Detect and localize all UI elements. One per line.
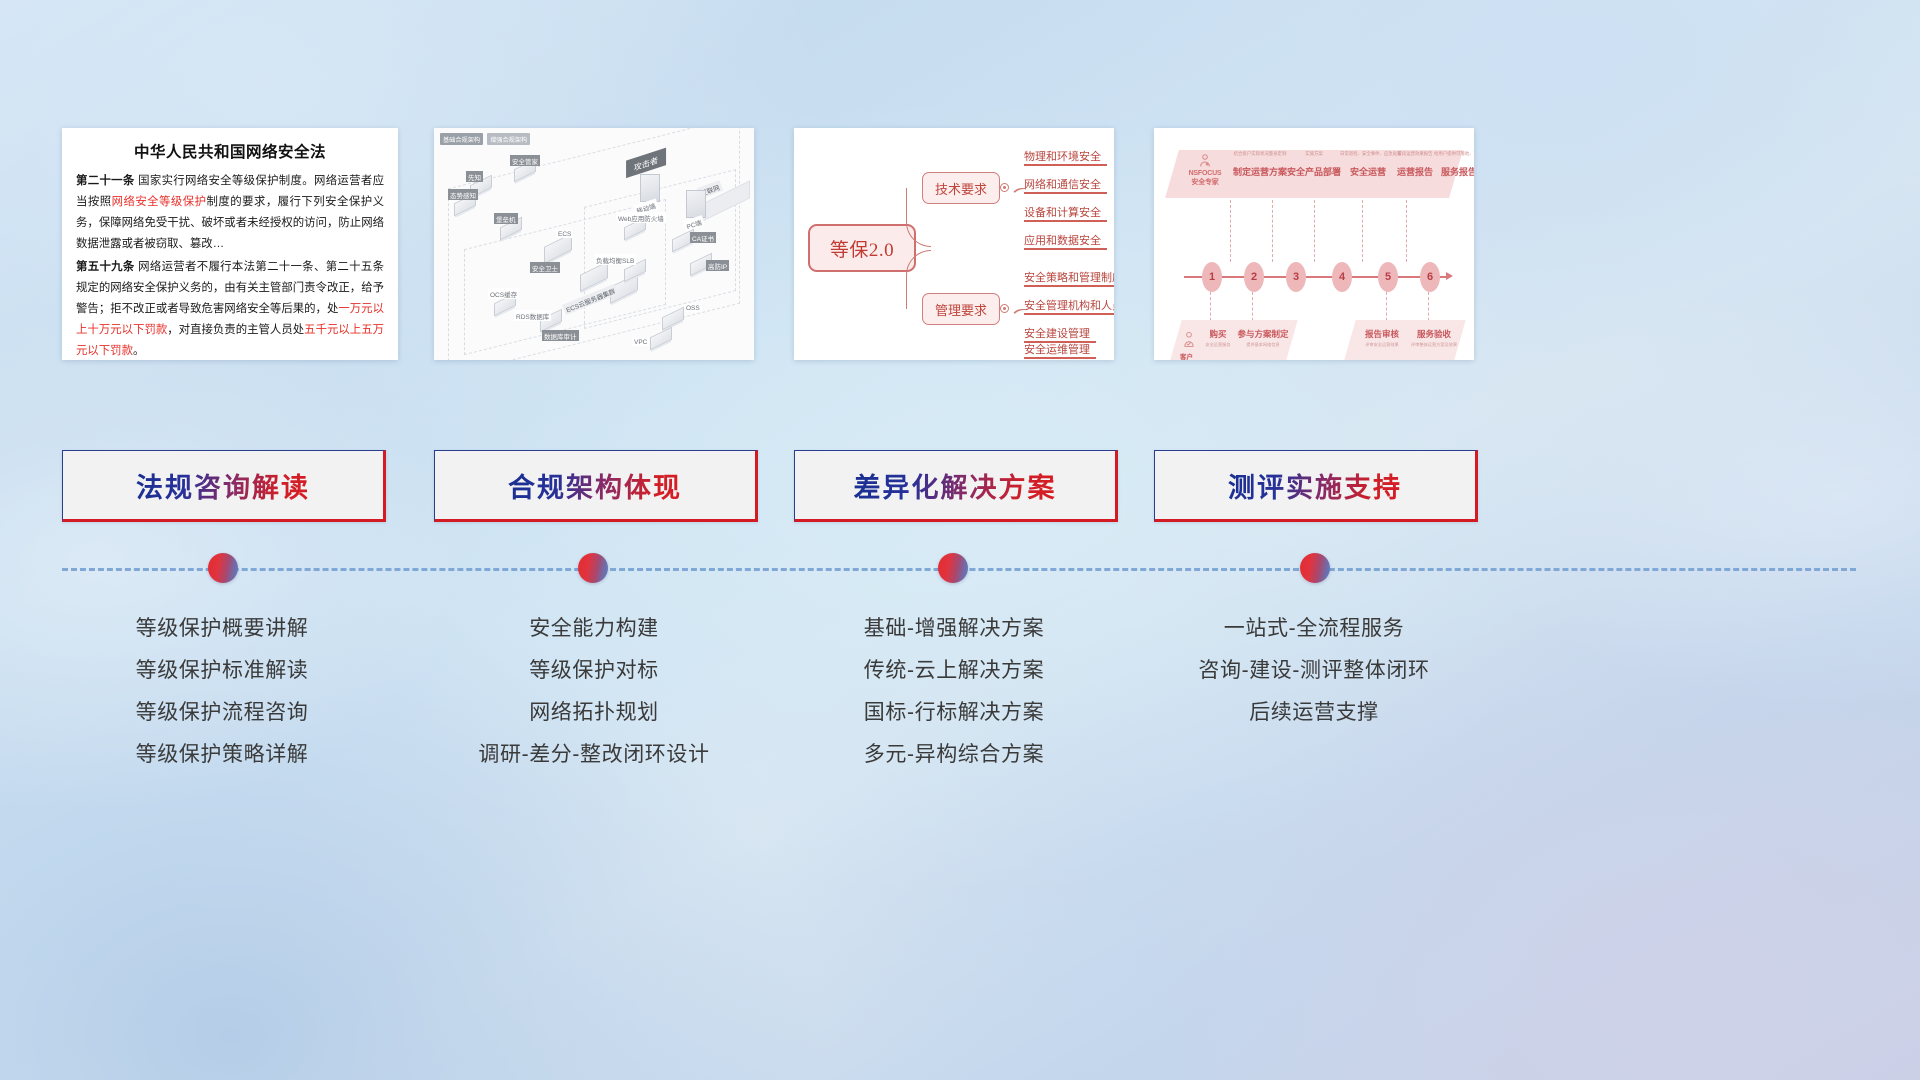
architecture-tabs: 基础合规架构 增强合规架构	[440, 133, 530, 145]
law-article-59: 第五十九条 网络运营者不履行本法第二十一条、第二十五条规定的网络安全保护义务的，…	[76, 257, 384, 360]
mindmap-leaf-tech-4: 应用和数据安全	[1024, 232, 1101, 250]
nsfocus-stage-5-title: 服务报告	[1434, 165, 1474, 178]
section-items-1: 等级保护概要讲解 等级保护标准解读 等级保护流程咨询 等级保护策略详解	[62, 608, 382, 776]
mindmap-leaf-tech-1: 物理和环境安全	[1024, 148, 1101, 166]
mindmap-collapse-dot-mgmt[interactable]	[1000, 304, 1009, 313]
nsfocus-customer-stage-1-sub: 安全运营服务	[1200, 342, 1236, 348]
architecture-node-ocs: OCS缓存	[488, 288, 519, 299]
section-3-item-1: 基础-增强解决方案	[794, 608, 1114, 650]
nsfocus-brand-line1: NSFOCUS	[1182, 169, 1228, 178]
card-mindmap-dengbao: 等保2.0 技术要求 管理要求 物理和环境安全 网络和通信安全 设备和计算安全 …	[794, 128, 1114, 360]
architecture-cube-vpc	[650, 327, 672, 351]
section-heading-1[interactable]: 法规咨询解读	[62, 450, 386, 522]
nsfocus-stage-3-title: 安全运营	[1340, 165, 1396, 178]
mindmap-curve-tech-4	[1010, 188, 1025, 219]
nsfocus-stage-4-title: 运营报告	[1390, 165, 1440, 178]
nsfocus-step-4: 4	[1332, 262, 1352, 292]
section-heading-4[interactable]: 测评实施支持	[1154, 450, 1478, 522]
nsfocus-customer-stage-4: 服务验收 评审整体运营方案及效果	[1408, 328, 1460, 348]
section-items-2: 安全能力构建 等级保护对标 网络拓扑规划 调研-差分-整改闭环设计	[434, 608, 754, 776]
architecture-node-antiddos: 高防IP	[706, 260, 729, 271]
law-article-21-label: 第二十一条	[76, 175, 135, 187]
architecture-node-rds: RDS数据库	[514, 310, 551, 321]
timeline-dot-2[interactable]	[578, 553, 608, 583]
section-heading-4-label: 测评实施支持	[1228, 466, 1402, 505]
nsfocus-connector-up-2	[1272, 200, 1274, 262]
nsfocus-customer-stage-1: 购买 安全运营服务	[1200, 328, 1236, 348]
nsfocus-customer-stage-4-title: 服务验收	[1408, 328, 1460, 340]
nsfocus-step-1: 1	[1202, 262, 1222, 292]
section-3-item-4: 多元-异构综合方案	[794, 734, 1114, 776]
section-heading-2[interactable]: 合规架构体现	[434, 450, 758, 522]
mindmap-leaf-tech-2: 网络和通信安全	[1024, 176, 1101, 194]
nsfocus-brand: NSFOCUS 安全专家	[1182, 152, 1228, 187]
section-1-item-1: 等级保护概要讲解	[62, 608, 382, 650]
timeline-dot-4[interactable]	[1300, 553, 1330, 583]
mindmap-branch-mgmt: 管理要求	[922, 293, 1000, 325]
nsfocus-stage-1-title: 制定运营方案	[1232, 165, 1288, 178]
section-2-item-3: 网络拓扑规划	[434, 692, 754, 734]
nsfocus-customer-stage-2-title: 参与方案制定	[1236, 328, 1290, 340]
mindmap-collapse-dot-tech[interactable]	[1000, 183, 1009, 192]
mindmap-leaf-mgmt-2: 安全管理机构和人员	[1024, 297, 1114, 315]
architecture-diagram: 基础合规架构 增强合规架构 攻击者 互联网 移动端 PC端	[434, 128, 754, 360]
timeline-dot-3[interactable]	[938, 553, 968, 583]
architecture-tab-enhanced[interactable]: 增强合规架构	[487, 133, 530, 145]
architecture-device-mobile	[640, 174, 660, 202]
nsfocus-brand-line2: 安全专家	[1182, 178, 1228, 187]
architecture-node-xianzhi: 先知	[466, 171, 483, 182]
nsfocus-stage-4: 阶段运营效果报告 运营报告	[1390, 151, 1440, 178]
nsfocus-stage-5-sub: 给用户提供可落地、可量化运营效果	[1434, 151, 1474, 157]
mindmap-diagram: 等保2.0 技术要求 管理要求 物理和环境安全 网络和通信安全 设备和计算安全 …	[794, 128, 1114, 360]
nsfocus-stage-4-sub: 阶段运营效果报告	[1390, 151, 1440, 157]
section-items-4: 一站式-全流程服务 咨询-建设-测评整体闭环 后续运营支撑	[1154, 608, 1474, 734]
architecture-node-waf: Web应用防火墙	[616, 212, 666, 223]
nsfocus-customer-stage-3-title: 报告审核	[1360, 328, 1404, 340]
nsfocus-customer-label: 客户	[1180, 351, 1193, 360]
section-heading-1-label: 法规咨询解读	[136, 466, 310, 505]
nsfocus-stage-2: 实施方案 安全产品部署	[1286, 151, 1342, 178]
mindmap-curve-mgmt-4	[1010, 309, 1025, 340]
nsfocus-stage-3: 日常巡检、安全事件、应急处置 安全运营	[1340, 151, 1396, 178]
section-heading-2-label: 合规架构体现	[508, 466, 682, 505]
section-heading-3[interactable]: 差异化解决方案	[794, 450, 1118, 522]
section-1-item-4: 等级保护策略详解	[62, 734, 382, 776]
architecture-node-slb: 负载均衡SLB	[594, 254, 636, 265]
law-article-59-text-c: 。	[133, 345, 144, 357]
mindmap-leaf-tech-3: 设备和计算安全	[1024, 204, 1101, 222]
law-article-59-text-b: ，对直接负责的主管人员处	[167, 324, 304, 336]
mindmap-leaf-mgmt-1: 安全策略和管理制度	[1024, 269, 1114, 287]
mindmap-leaf-mgmt-4: 安全运维管理	[1024, 341, 1090, 359]
nsfocus-service-band-content: NSFOCUS 安全专家 结合客户实际状况量身定制 制定运营方案 实施方案 安全…	[1172, 150, 1456, 198]
architecture-node-bastion: 堡垒机	[494, 213, 518, 224]
nsfocus-axis-arrow	[1446, 272, 1453, 280]
section-2-item-1: 安全能力构建	[434, 608, 754, 650]
law-article-21: 第二十一条 国家实行网络安全等级保护制度。网络运营者应当按照网络安全等级保护制度…	[76, 171, 384, 255]
expert-person-icon	[1197, 153, 1213, 169]
section-4-item-3: 后续运营支撑	[1154, 692, 1474, 734]
nsfocus-customer-stage-2: 参与方案制定 提供基本网络信息	[1236, 328, 1290, 348]
card-cloud-architecture: 基础合规架构 增强合规架构 攻击者 互联网 移动端 PC端	[434, 128, 754, 360]
nsfocus-stage-2-title: 安全产品部署	[1286, 165, 1342, 178]
nsfocus-connector-up-3	[1314, 200, 1316, 262]
nsfocus-stage-5: 给用户提供可落地、可量化运营效果 服务报告	[1434, 151, 1474, 178]
law-document-body: 中华人民共和国网络安全法 第二十一条 国家实行网络安全等级保护制度。网络运营者应…	[62, 128, 398, 360]
section-2-item-4: 调研-差分-整改闭环设计	[434, 734, 754, 776]
nsfocus-stage-1-sub: 结合客户实际状况量身定制	[1232, 151, 1288, 157]
section-heading-3-label: 差异化解决方案	[854, 466, 1057, 505]
mindmap-branch-tech: 技术要求	[922, 172, 1000, 204]
nsfocus-customer-left-content: 客户 购买 安全运营服务 参与方案制定 提供基本网络信息	[1180, 324, 1296, 360]
law-article-59-label: 第五十九条	[76, 261, 135, 273]
architecture-device-pc	[686, 190, 706, 218]
nsfocus-step-6: 6	[1420, 262, 1440, 292]
architecture-node-butler: 安全管家	[510, 155, 540, 166]
section-2-item-2: 等级保护对标	[434, 650, 754, 692]
nsfocus-connector-up-1	[1230, 200, 1232, 262]
architecture-node-vpc: VPC	[632, 338, 649, 346]
section-1-item-3: 等级保护流程咨询	[62, 692, 382, 734]
nsfocus-stage-1: 结合客户实际状况量身定制 制定运营方案	[1232, 151, 1288, 178]
nsfocus-connector-up-5	[1406, 200, 1408, 262]
section-1-item-2: 等级保护标准解读	[62, 650, 382, 692]
section-items-3: 基础-增强解决方案 传统-云上解决方案 国标-行标解决方案 多元-异构综合方案	[794, 608, 1114, 776]
mindmap-root-node: 等保2.0	[808, 224, 916, 272]
section-4-item-2: 咨询-建设-测评整体闭环	[1154, 650, 1474, 692]
nsfocus-step-5: 5	[1378, 262, 1398, 292]
architecture-node-oss: OSS	[684, 304, 702, 312]
customer-person-icon	[1182, 330, 1196, 350]
nsfocus-axis-line	[1184, 276, 1446, 278]
law-title: 中华人民共和国网络安全法	[76, 140, 384, 162]
nsfocus-stage-2-sub: 实施方案	[1286, 151, 1342, 157]
section-3-item-3: 国标-行标解决方案	[794, 692, 1114, 734]
nsfocus-step-2: 2	[1244, 262, 1264, 292]
nsfocus-customer-stage-1-title: 购买	[1200, 328, 1236, 340]
architecture-node-ecs: ECS	[556, 230, 573, 238]
timeline-dot-1[interactable]	[208, 553, 238, 583]
architecture-node-situation: 态势感知	[448, 189, 478, 200]
law-article-21-highlight: 网络安全等级保护	[112, 196, 207, 208]
nsfocus-customer-stage-2-sub: 提供基本网络信息	[1236, 342, 1290, 348]
card-nsfocus-timeline: NSFOCUS 安全专家 结合客户实际状况量身定制 制定运营方案 实施方案 安全…	[1154, 128, 1474, 360]
nsfocus-diagram: NSFOCUS 安全专家 结合客户实际状况量身定制 制定运营方案 实施方案 安全…	[1154, 128, 1474, 360]
nsfocus-customer-stage-3-sub: 评审安全运营效果	[1360, 342, 1404, 348]
section-4-item-1: 一站式-全流程服务	[1154, 608, 1474, 650]
architecture-node-db-audit: 数据库审计	[542, 330, 579, 341]
nsfocus-customer-stage-3: 报告审核 评审安全运营效果	[1360, 328, 1404, 348]
nsfocus-connector-up-4	[1362, 200, 1364, 262]
slide-stage: 中华人民共和国网络安全法 第二十一条 国家实行网络安全等级保护制度。网络运营者应…	[0, 0, 1920, 1080]
architecture-node-ca: CA证书	[690, 232, 716, 243]
card-law-document: 中华人民共和国网络安全法 第二十一条 国家实行网络安全等级保护制度。网络运营者应…	[62, 128, 398, 360]
nsfocus-customer-stage-4-sub: 评审整体运营方案及效果	[1408, 342, 1460, 348]
architecture-tab-basic[interactable]: 基础合规架构	[440, 133, 483, 145]
architecture-node-guard: 安全卫士	[530, 262, 560, 273]
section-3-item-2: 传统-云上解决方案	[794, 650, 1114, 692]
nsfocus-customer-right-content: 报告审核 评审安全运营效果 服务验收 评审整体运营方案及效果	[1354, 324, 1464, 360]
nsfocus-stage-3-sub: 日常巡检、安全事件、应急处置	[1340, 151, 1396, 157]
nsfocus-step-3: 3	[1286, 262, 1306, 292]
